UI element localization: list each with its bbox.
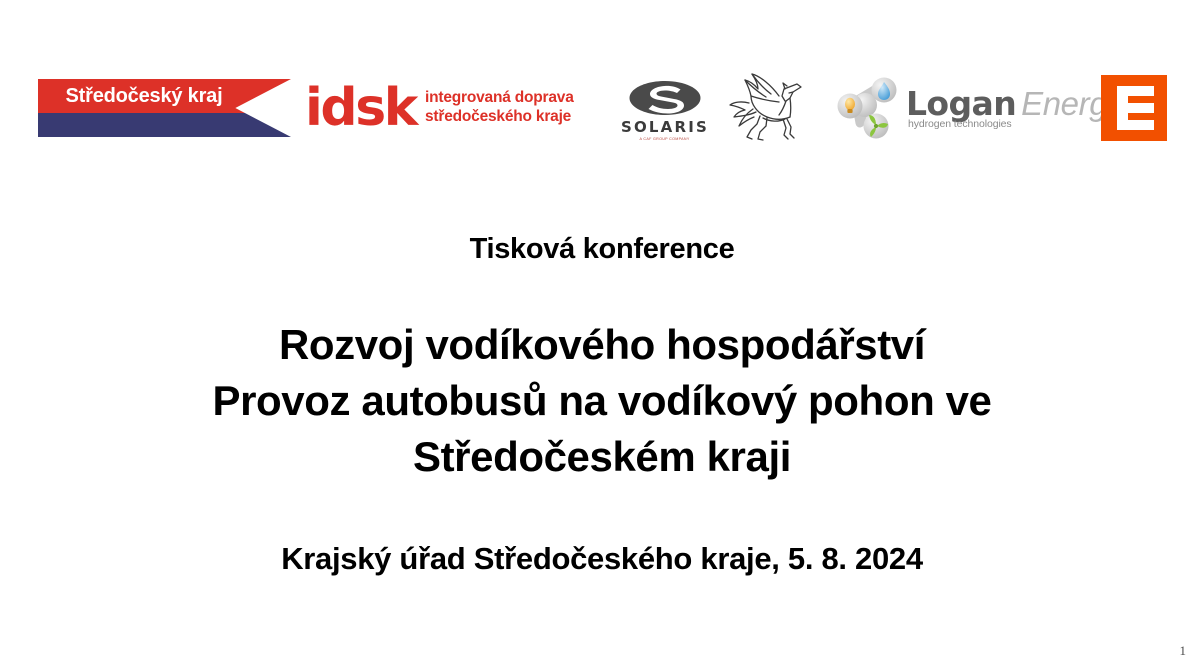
solaris-s-mark-icon bbox=[628, 80, 702, 116]
logan-energy-wordmark: LoganEnergy hydrogen technologies bbox=[906, 87, 1123, 130]
idsk-logo: idsk integrovaná doprava středočeského k… bbox=[305, 80, 574, 136]
partner-logo-strip: Středočeský kraj idsk integrovaná doprav… bbox=[0, 34, 1204, 114]
page-title: Rozvoj vodíkového hospodářství Provoz au… bbox=[0, 317, 1204, 485]
pegasus-horse-logo bbox=[727, 71, 819, 145]
solaris-subtext: A CAF GROUP COMPANY bbox=[640, 137, 690, 141]
pegasus-icon bbox=[727, 71, 819, 145]
event-kicker: Tisková konference bbox=[0, 232, 1204, 267]
stredocesky-kraj-banner: Středočeský kraj bbox=[38, 79, 291, 137]
logan-energy-logo: LoganEnergy hydrogen technologies bbox=[836, 76, 1056, 140]
title-line-1: Rozvoj vodíkového hospodářství bbox=[0, 317, 1204, 373]
cez-square-mark bbox=[1101, 75, 1167, 141]
title-block: Tisková konference Rozvoj vodíkového hos… bbox=[0, 232, 1204, 578]
solaris-wordmark: SOLARIS bbox=[621, 118, 709, 136]
venue-and-date: Krajský úřad Středočeského kraje, 5. 8. … bbox=[0, 540, 1204, 577]
cez-logo bbox=[1101, 75, 1167, 141]
title-line-3: Středočeském kraji bbox=[0, 429, 1204, 485]
logan-word: Logan bbox=[906, 84, 1016, 123]
idsk-wordmark: idsk bbox=[305, 85, 416, 132]
cez-glyph-icon bbox=[1101, 75, 1167, 141]
idsk-tagline: integrovaná doprava středočeského kraje bbox=[425, 89, 574, 127]
slide-page-number: 1 bbox=[1180, 643, 1187, 659]
title-line-2: Provoz autobusů na vodíkový pohon ve bbox=[0, 373, 1204, 429]
solaris-logo: SOLARIS A CAF GROUP COMPANY bbox=[615, 78, 715, 142]
stredocesky-kraj-logo: Středočeský kraj bbox=[38, 79, 291, 137]
banner-navy-band bbox=[38, 113, 291, 137]
presentation-slide: Středočeský kraj idsk integrovaná doprav… bbox=[0, 0, 1204, 671]
logan-molecule-icon bbox=[836, 77, 904, 139]
idsk-tagline-line1: integrovaná doprava bbox=[425, 89, 574, 106]
idsk-tagline-line2: středočeského kraje bbox=[425, 108, 571, 125]
stredocesky-kraj-label: Středočeský kraj bbox=[38, 79, 250, 113]
